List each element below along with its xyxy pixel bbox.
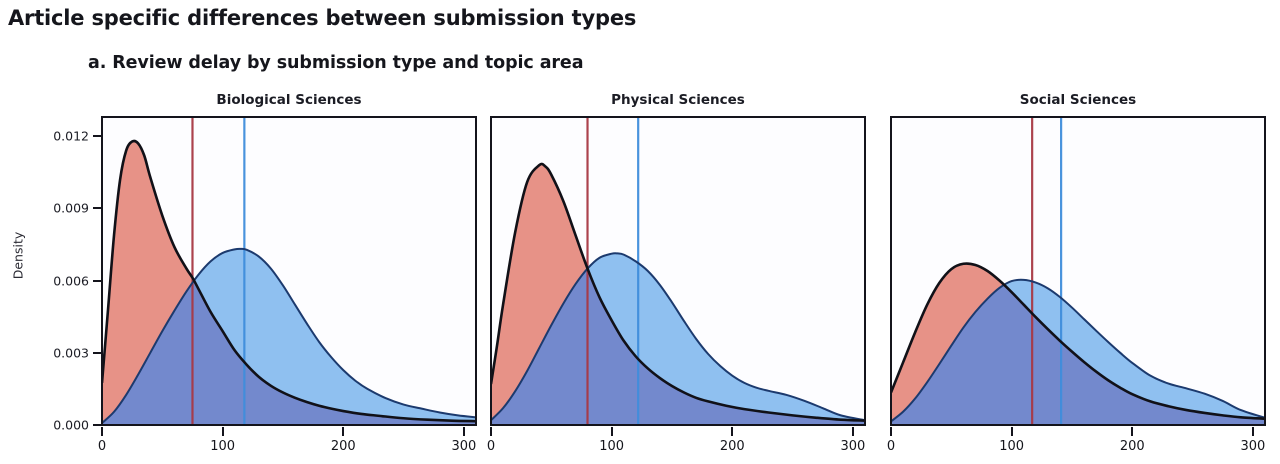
y-tick-mark bbox=[93, 352, 102, 354]
x-tick-mark bbox=[852, 427, 854, 436]
x-tick-mark bbox=[342, 427, 344, 436]
x-tick-mark bbox=[1011, 427, 1013, 436]
y-axis-label: Density bbox=[11, 216, 26, 296]
x-tick-mark bbox=[463, 427, 465, 436]
x-tick-mark bbox=[222, 427, 224, 436]
x-tick-mark bbox=[890, 427, 892, 436]
x-tick-label: 0 bbox=[98, 439, 106, 454]
y-tick-mark bbox=[93, 207, 102, 209]
density-plot-3 bbox=[890, 116, 1266, 426]
x-tick-label: 0 bbox=[487, 439, 495, 454]
panel-title-2: Physical Sciences bbox=[491, 92, 865, 108]
x-tick-mark bbox=[611, 427, 613, 436]
panel-title-1: Biological Sciences bbox=[102, 92, 476, 108]
x-tick-label: 100 bbox=[210, 439, 235, 454]
x-tick-label: 200 bbox=[1120, 439, 1145, 454]
x-tick-label: 300 bbox=[452, 439, 477, 454]
y-tick-mark bbox=[93, 424, 102, 426]
x-tick-mark bbox=[1252, 427, 1254, 436]
x-tick-label: 200 bbox=[720, 439, 745, 454]
x-tick-mark bbox=[731, 427, 733, 436]
x-tick-label: 100 bbox=[599, 439, 624, 454]
x-tick-label: 200 bbox=[331, 439, 356, 454]
y-tick-label: 0.012 bbox=[53, 129, 89, 144]
y-tick-label: 0.003 bbox=[53, 345, 89, 360]
y-tick-label: 0.009 bbox=[53, 201, 89, 216]
y-tick-label: 0.006 bbox=[53, 273, 89, 288]
x-tick-label: 300 bbox=[841, 439, 866, 454]
density-plot-1 bbox=[101, 116, 477, 426]
density-plot-2 bbox=[490, 116, 866, 426]
x-tick-mark bbox=[1131, 427, 1133, 436]
panel-title-3: Social Sciences bbox=[891, 92, 1265, 108]
y-tick-mark bbox=[93, 135, 102, 137]
figure-root: Article specific differences between sub… bbox=[0, 0, 1280, 464]
x-tick-mark bbox=[490, 427, 492, 436]
x-tick-label: 300 bbox=[1241, 439, 1266, 454]
x-tick-mark bbox=[101, 427, 103, 436]
y-tick-label: 0.000 bbox=[53, 418, 89, 433]
y-tick-mark bbox=[93, 280, 102, 282]
figure-subtitle: a. Review delay by submission type and t… bbox=[88, 53, 583, 73]
page-title: Article specific differences between sub… bbox=[8, 6, 636, 30]
x-tick-label: 100 bbox=[999, 439, 1024, 454]
x-tick-label: 0 bbox=[887, 439, 895, 454]
